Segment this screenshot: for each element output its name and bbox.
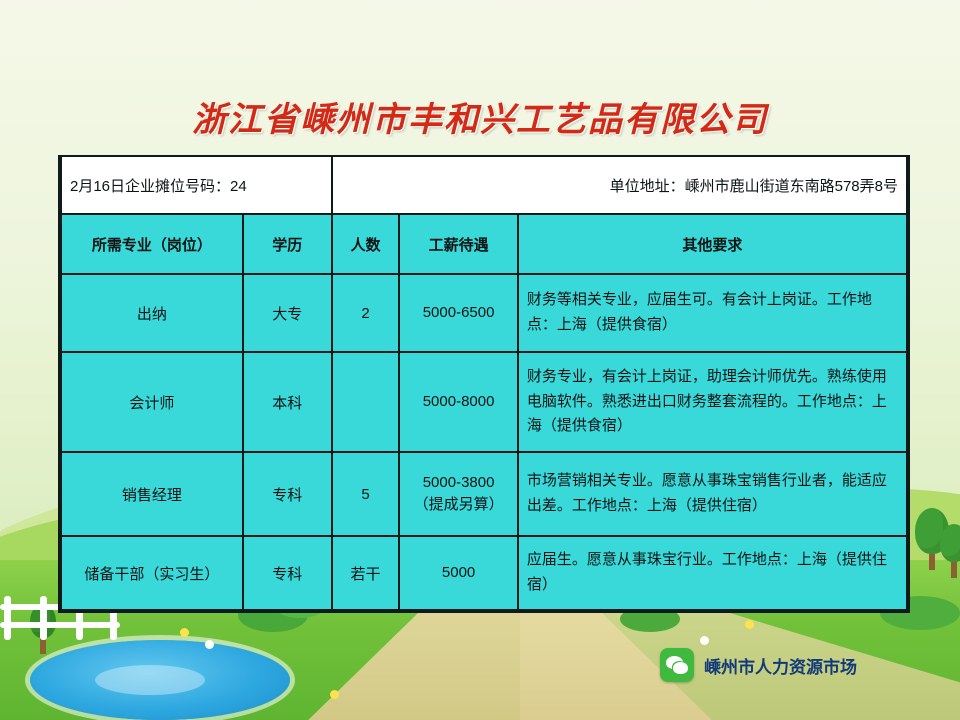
flower xyxy=(700,636,709,645)
col-head-education: 学历 xyxy=(243,214,332,274)
cell-education: 大专 xyxy=(243,274,332,352)
booth-number: 2月16日企业摊位号码：24 xyxy=(61,157,332,214)
footer-label: 嵊州市人力资源市场 xyxy=(704,653,857,678)
cell-major: 储备干部（实习生） xyxy=(61,536,243,610)
cell-education: 本科 xyxy=(243,352,332,452)
wechat-icon xyxy=(660,648,694,682)
cell-count: 5 xyxy=(332,452,400,536)
cell-count: 2 xyxy=(332,274,400,352)
cell-other: 市场营销相关专业。愿意从事珠宝销售行业者，能适应出差。工作地点：上海（提供住宿） xyxy=(518,452,907,536)
col-head-count: 人数 xyxy=(332,214,400,274)
table-row: 出纳 大专 2 5000-6500 财务等相关专业，应届生可。有会计上岗证。工作… xyxy=(61,274,907,352)
job-table-element: 2月16日企业摊位号码：24 单位地址：嵊州市鹿山街道东南路578弄8号 所需专… xyxy=(60,157,908,611)
footer-branding: 嵊州市人力资源市场 xyxy=(660,648,857,682)
table-row: 销售经理 专科 5 5000-3800（提成另算） 市场营销相关专业。愿意从事珠… xyxy=(61,452,907,536)
cell-major: 会计师 xyxy=(61,352,243,452)
cell-salary: 5000-8000 xyxy=(399,352,517,452)
cell-other: 财务等相关专业，应届生可。有会计上岗证。工作地点：上海（提供食宿） xyxy=(518,274,907,352)
flower xyxy=(745,620,754,629)
cell-salary: 5000-3800（提成另算） xyxy=(399,452,517,536)
col-head-salary: 工薪待遇 xyxy=(399,214,517,274)
col-head-major: 所需专业（岗位） xyxy=(61,214,243,274)
cell-major: 出纳 xyxy=(61,274,243,352)
flower xyxy=(330,690,339,699)
cell-count xyxy=(332,352,400,452)
cell-major: 销售经理 xyxy=(61,452,243,536)
cell-education: 专科 xyxy=(243,452,332,536)
tree xyxy=(940,524,960,578)
table-info-row: 2月16日企业摊位号码：24 单位地址：嵊州市鹿山街道东南路578弄8号 xyxy=(61,157,907,214)
cell-other: 财务专业，有会计上岗证，助理会计师优先。熟练使用电脑软件。熟悉进出口财务整套流程… xyxy=(518,352,907,452)
job-table: 2月16日企业摊位号码：24 单位地址：嵊州市鹿山街道东南路578弄8号 所需专… xyxy=(58,155,910,613)
pond-highlight xyxy=(95,665,205,695)
col-head-other: 其他要求 xyxy=(518,214,907,274)
cell-count: 若干 xyxy=(332,536,400,610)
table-header-row: 所需专业（岗位） 学历 人数 工薪待遇 其他要求 xyxy=(61,214,907,274)
cell-other: 应届生。愿意从事珠宝行业。工作地点：上海（提供住宿） xyxy=(518,536,907,610)
page-title: 浙江省嵊州市丰和兴工艺品有限公司 xyxy=(0,92,960,141)
cell-education: 专科 xyxy=(243,536,332,610)
company-address: 单位地址：嵊州市鹿山街道东南路578弄8号 xyxy=(332,157,907,214)
cell-salary: 5000 xyxy=(399,536,517,610)
table-row: 会计师 本科 5000-8000 财务专业，有会计上岗证，助理会计师优先。熟练使… xyxy=(61,352,907,452)
flower xyxy=(180,628,189,637)
table-row: 储备干部（实习生） 专科 若干 5000 应届生。愿意从事珠宝行业。工作地点：上… xyxy=(61,536,907,610)
flower xyxy=(205,640,214,649)
cell-salary: 5000-6500 xyxy=(399,274,517,352)
